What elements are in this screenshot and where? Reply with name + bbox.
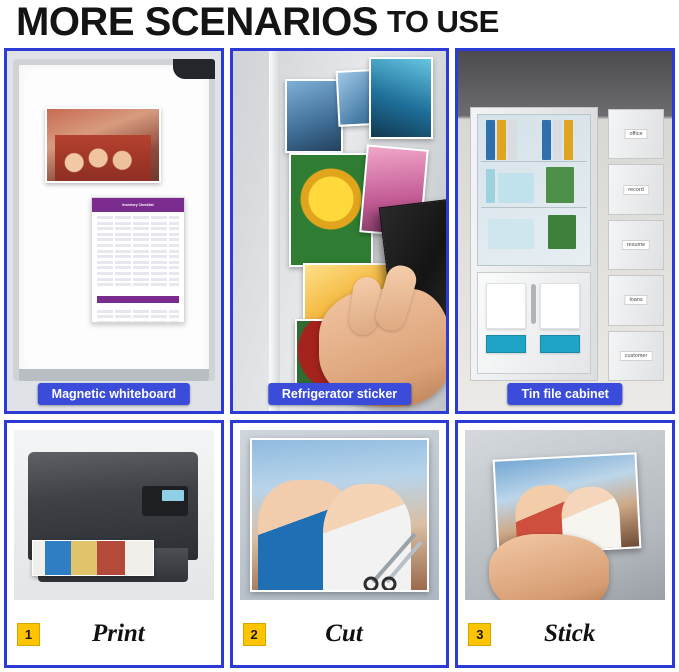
document-row-line bbox=[97, 238, 179, 241]
document-row-line bbox=[97, 283, 179, 286]
step-stick-image bbox=[465, 430, 665, 600]
step-label: Stick bbox=[491, 620, 648, 648]
drawer-label: loans bbox=[624, 295, 647, 305]
document-row-line bbox=[97, 255, 179, 258]
document-row-line bbox=[97, 244, 179, 247]
cabinet-glass-door bbox=[477, 114, 591, 266]
fridge-photo bbox=[285, 79, 343, 153]
headline-suffix: TO USE bbox=[387, 2, 499, 42]
cabinet-drawer: resume bbox=[608, 220, 664, 270]
document-row-line bbox=[97, 222, 179, 225]
cabinet-shelf bbox=[481, 207, 587, 208]
cabinet-shelf bbox=[481, 161, 587, 162]
drawer-label: record bbox=[623, 185, 649, 195]
binder bbox=[542, 120, 551, 160]
document-row-line bbox=[97, 310, 179, 313]
document-title: Inventory Checklist bbox=[92, 198, 184, 212]
box bbox=[486, 169, 495, 203]
document-row-line bbox=[97, 261, 179, 264]
whiteboard-frame: Inventory Checklist bbox=[13, 59, 215, 381]
box bbox=[498, 173, 534, 203]
cabinet-body bbox=[470, 107, 598, 381]
drawer-label: office bbox=[624, 129, 647, 139]
scene-tin-file-cabinet: office record resume loans customer Tin … bbox=[455, 48, 675, 414]
drawer-label: resume bbox=[622, 240, 650, 250]
binder bbox=[486, 120, 495, 160]
cabinet-drawer: record bbox=[608, 164, 664, 214]
document-row-line bbox=[97, 321, 179, 323]
step-number-badge: 3 bbox=[468, 623, 491, 646]
cabinet-drawer: loans bbox=[608, 275, 664, 325]
step-print: 1 Print bbox=[4, 420, 224, 668]
document-row-line bbox=[97, 266, 179, 269]
fridge-photo-sunflower bbox=[289, 153, 373, 267]
box bbox=[488, 219, 534, 249]
page-title: MORE SCENARIOS TO USE bbox=[0, 0, 679, 44]
drawer-label: customer bbox=[620, 351, 653, 361]
step-label: Print bbox=[40, 620, 197, 648]
cabinet-drawer: customer bbox=[608, 331, 664, 381]
cabinet-note bbox=[540, 283, 580, 329]
document-row-line bbox=[97, 272, 179, 275]
photo-subjects bbox=[55, 135, 151, 181]
whiteboard-tray bbox=[19, 369, 209, 381]
headline-main: MORE SCENARIOS bbox=[16, 2, 378, 42]
step-cut-footer: 2 Cut bbox=[233, 603, 447, 665]
binder bbox=[508, 120, 517, 160]
scene-caption-whiteboard: Magnetic whiteboard bbox=[38, 383, 190, 405]
fridge-photo bbox=[369, 57, 433, 139]
document-footer-rows bbox=[92, 306, 184, 323]
binder bbox=[553, 120, 562, 160]
cabinet-drawer-stack: office record resume loans customer bbox=[608, 109, 664, 381]
cabinet-drawer: office bbox=[608, 109, 664, 159]
binder bbox=[497, 120, 506, 160]
document-header: Inventory Checklist bbox=[92, 198, 184, 212]
printed-photo bbox=[32, 540, 154, 576]
step-number-badge: 2 bbox=[243, 623, 266, 646]
step-stick: 3 Stick bbox=[455, 420, 675, 668]
document-rows bbox=[92, 212, 184, 293]
plant bbox=[548, 215, 576, 249]
scissors-icon bbox=[363, 520, 433, 590]
step-stick-footer: 3 Stick bbox=[458, 603, 672, 665]
whiteboard-document: Inventory Checklist bbox=[91, 197, 185, 323]
document-row-line bbox=[97, 216, 179, 219]
document-row-line bbox=[97, 227, 179, 230]
plant bbox=[546, 167, 574, 203]
scene-caption-refrigerator: Refrigerator sticker bbox=[268, 383, 411, 405]
cabinet-magnet bbox=[540, 335, 580, 353]
cabinet-note bbox=[486, 283, 526, 329]
scenario-row: Inventory Checklist bbox=[4, 48, 675, 414]
cabinet-magnet bbox=[486, 335, 526, 353]
step-cut-image bbox=[240, 430, 440, 600]
step-number-badge: 1 bbox=[17, 623, 40, 646]
scene-magnetic-whiteboard: Inventory Checklist bbox=[4, 48, 224, 414]
fridge-door-edge bbox=[269, 51, 280, 411]
whiteboard-corner bbox=[173, 59, 215, 79]
document-row-line bbox=[97, 233, 179, 236]
cabinet-handle bbox=[531, 284, 536, 324]
printer-screen bbox=[162, 490, 184, 501]
document-row-line bbox=[97, 250, 179, 253]
binder bbox=[564, 120, 573, 160]
step-print-footer: 1 Print bbox=[7, 603, 221, 665]
document-row-line bbox=[97, 278, 179, 281]
step-cut: 2 Cut bbox=[230, 420, 450, 668]
scene-caption-cabinet: Tin file cabinet bbox=[508, 383, 623, 405]
steps-row: 1 Print 2 Cut bbox=[4, 420, 675, 668]
hand bbox=[489, 534, 609, 600]
document-row-line bbox=[97, 315, 179, 318]
document-band bbox=[97, 296, 179, 303]
step-label: Cut bbox=[266, 620, 423, 648]
product-infographic: MORE SCENARIOS TO USE Inventory Checklis… bbox=[0, 0, 679, 672]
whiteboard-photo bbox=[45, 107, 161, 183]
step-print-image bbox=[14, 430, 214, 600]
scene-refrigerator-sticker: Refrigerator sticker bbox=[230, 48, 450, 414]
